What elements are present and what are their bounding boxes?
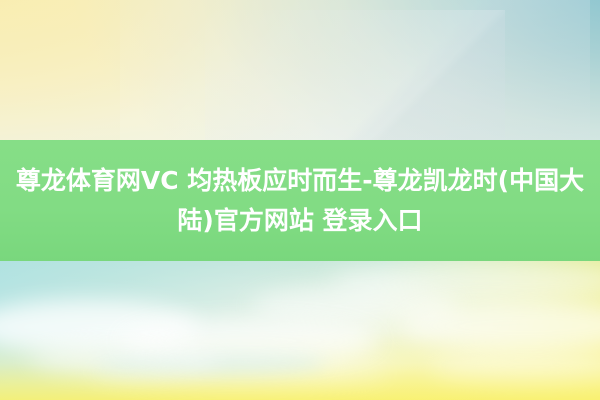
banner-image: 尊龙体育网VC 均热板应时而生-尊龙凯龙时(中国大陆)官方网站 登录入口 <box>0 0 600 400</box>
title-band: 尊龙体育网VC 均热板应时而生-尊龙凯龙时(中国大陆)官方网站 登录入口 <box>0 140 600 261</box>
banner-title: 尊龙体育网VC 均热板应时而生-尊龙凯龙时(中国大陆)官方网站 登录入口 <box>10 161 590 241</box>
cloud-shape <box>90 360 390 386</box>
